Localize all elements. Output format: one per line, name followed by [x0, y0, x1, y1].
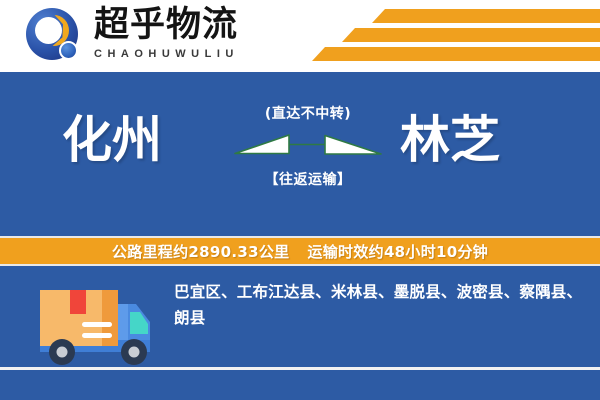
- destination-city: 林芝: [400, 111, 500, 169]
- brand-block: 超乎物流 CHAOHUWULIU: [94, 6, 239, 61]
- route-middle: (直达不中转) 【往返运输】: [232, 103, 384, 189]
- delivery-truck-icon: [26, 278, 166, 370]
- duration-label: 运输时效约48小时10分钟: [307, 241, 488, 262]
- stripe-top: [372, 9, 600, 23]
- company-logo-icon: [26, 8, 82, 64]
- double-arrow-icon: [232, 128, 384, 162]
- brand-pinyin: CHAOHUWULIU: [94, 47, 239, 61]
- bottom-divider: [0, 367, 600, 370]
- route-info-bar: 公路里程约2890.33公里 运输时效约48小时10分钟: [0, 236, 600, 266]
- stripe-middle: [342, 28, 600, 42]
- banner-body: 化州 (直达不中转) 【往返运输】 林芝 公路里程约2890.33公里 运输时效…: [0, 73, 600, 400]
- decorative-stripes: [280, 0, 600, 72]
- logistics-route-banner: 超乎物流 CHAOHUWULIU 化州 (直达不中转): [0, 0, 600, 400]
- stripe-bottom: [312, 47, 600, 61]
- coverage-districts-text: 巴宜区、工布江达县、米林县、墨脱县、波密县、察隅县、朗县: [174, 279, 586, 331]
- coverage-section: 巴宜区、工布江达县、米林县、墨脱县、波密县、察隅县、朗县: [0, 273, 600, 373]
- distance-label: 公路里程约2890.33公里: [112, 241, 290, 262]
- origin-city: 化州: [62, 111, 162, 169]
- logo-inner-circle: [35, 17, 62, 44]
- roundtrip-note: 【往返运输】: [232, 169, 384, 189]
- banner-header: 超乎物流 CHAOHUWULIU: [0, 0, 600, 72]
- logo-accent-dot-icon: [59, 41, 78, 60]
- direct-shipping-note: (直达不中转): [232, 103, 384, 123]
- route-section: 化州 (直达不中转) 【往返运输】 林芝: [0, 73, 600, 236]
- brand-name: 超乎物流: [94, 6, 239, 44]
